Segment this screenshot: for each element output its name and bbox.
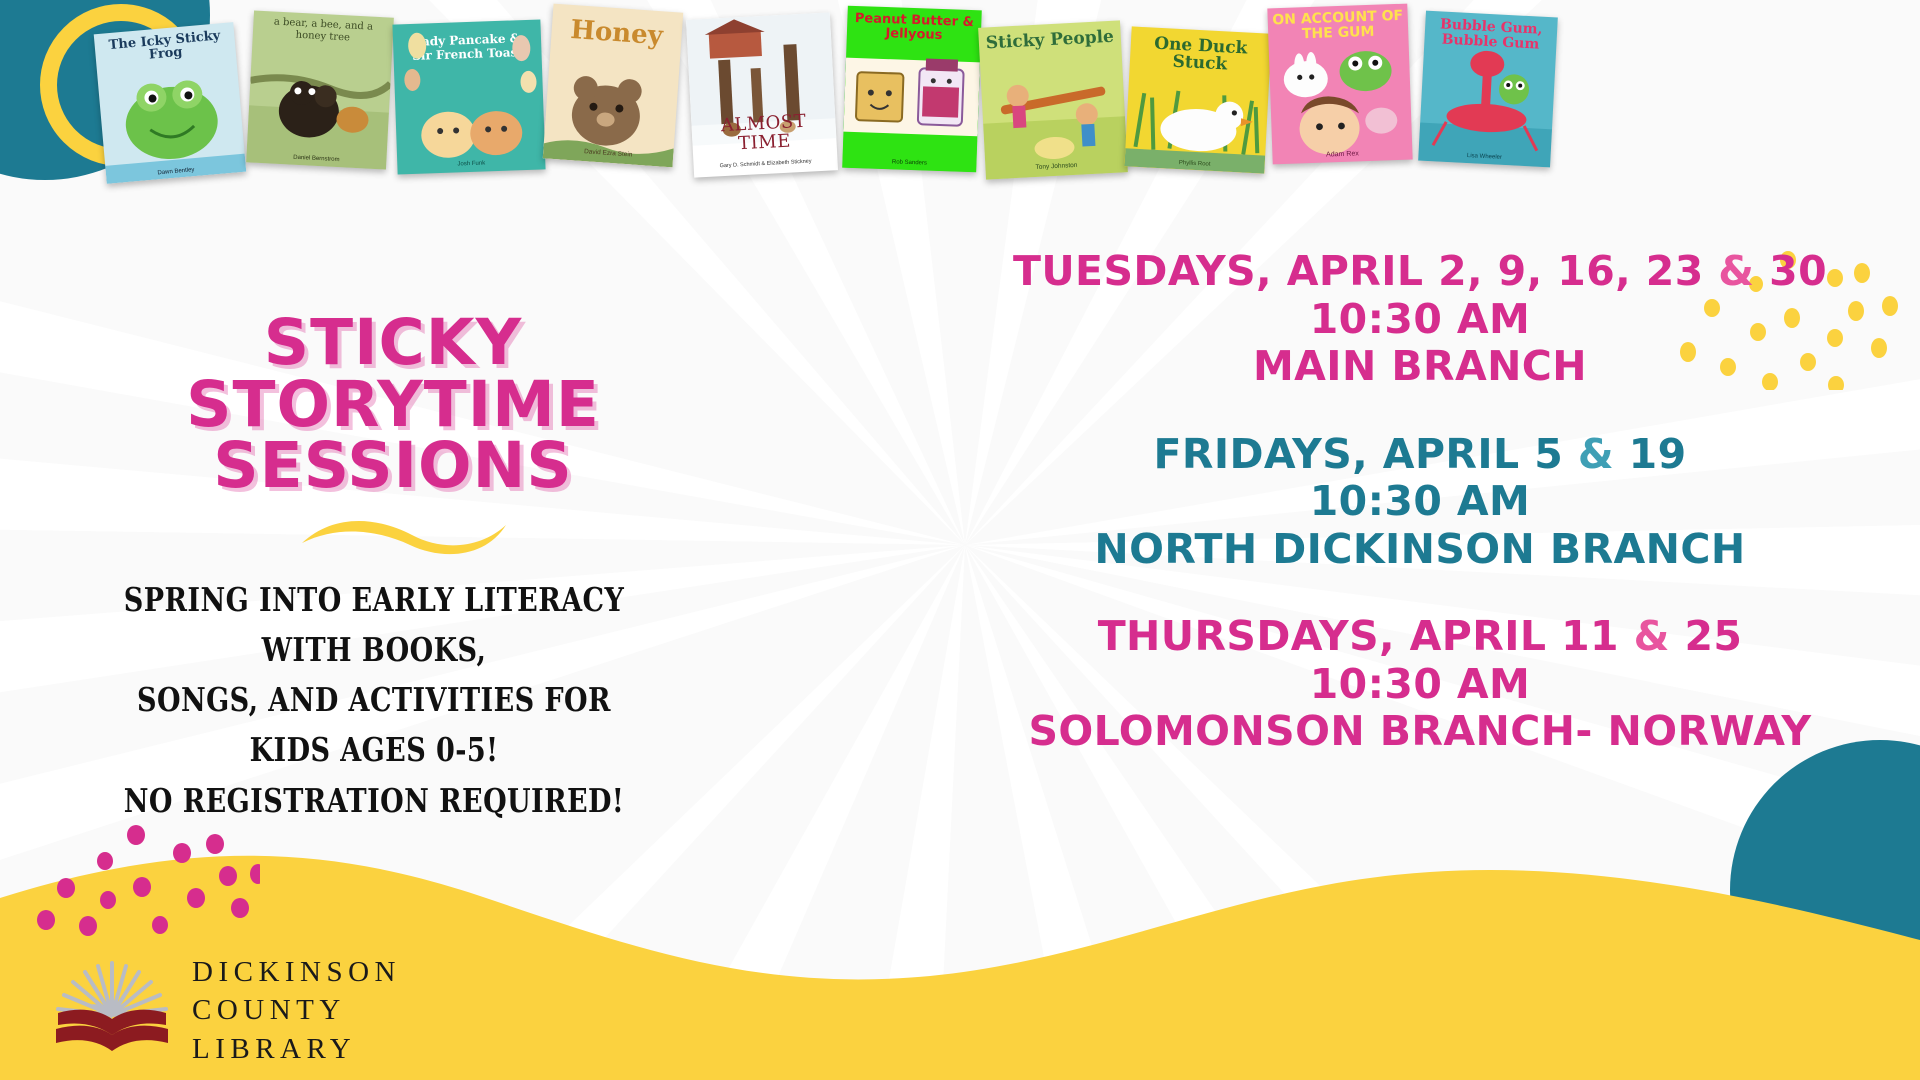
book-cover: Sticky People Tony Johnston bbox=[978, 20, 1128, 179]
book-cover-row: The Icky Sticky Frog Dawn Bentley a bear… bbox=[0, 0, 1920, 215]
schedule-days: THURSDAYS, APRIL 11 & 25 bbox=[980, 613, 1860, 661]
blurb-line-2: SONGS, AND ACTIVITIES FOR KIDS AGES 0-5! bbox=[103, 675, 644, 775]
schedule-days-prefix: FRIDAYS, APRIL 5 bbox=[1153, 430, 1577, 478]
schedule-ampersand: & bbox=[1718, 247, 1769, 295]
logo-line-2: COUNTY bbox=[192, 991, 401, 1029]
schedule-entry-thursdays: THURSDAYS, APRIL 11 & 25 10:30 AM SOLOMO… bbox=[980, 613, 1860, 756]
book-cover: Lady Pancake & Sir French Toast Josh Fun… bbox=[392, 19, 545, 174]
book-cover: ON ACCOUNT OF THE GUM Adam Rex bbox=[1267, 4, 1412, 165]
schedule-location: SOLOMONSON BRANCH- NORWAY bbox=[980, 708, 1860, 756]
schedule-days: FRIDAYS, APRIL 5 & 19 bbox=[980, 431, 1860, 479]
schedule-days-suffix: 30 bbox=[1769, 247, 1827, 295]
schedule-list: TUESDAYS, APRIL 2, 9, 16, 23 & 30 10:30 … bbox=[980, 248, 1860, 796]
book-cover: a bear, a bee, and a honey tree Daniel B… bbox=[246, 10, 394, 169]
library-logo-text: DICKINSON COUNTY LIBRARY bbox=[192, 953, 401, 1068]
book-cover: Peanut Butter & Jellyous Rob Sanders bbox=[842, 6, 982, 173]
schedule-time: 10:30 AM bbox=[980, 661, 1860, 709]
logo-line-1: DICKINSON bbox=[192, 953, 401, 991]
schedule-ampersand: & bbox=[1578, 430, 1629, 478]
schedule-days-prefix: TUESDAYS, APRIL 2, 9, 16, 23 bbox=[1013, 247, 1718, 295]
schedule-days-suffix: 19 bbox=[1629, 430, 1687, 478]
book-cover: Bubble Gum, Bubble Gum Lisa Wheeler bbox=[1418, 11, 1558, 168]
library-logo: DICKINSON COUNTY LIBRARY bbox=[42, 947, 382, 1062]
schedule-days-prefix: THURSDAYS, APRIL 11 bbox=[1098, 612, 1634, 660]
poster-canvas: The Icky Sticky Frog Dawn Bentley a bear… bbox=[0, 0, 1920, 1080]
book-cover: ALMOST TIME Gary D. Schmidt & Elizabeth … bbox=[686, 12, 838, 177]
book-cover: Honey David Ezra Stein bbox=[543, 4, 683, 168]
schedule-ampersand: & bbox=[1634, 612, 1685, 660]
schedule-location: NORTH DICKINSON BRANCH bbox=[980, 526, 1860, 574]
page-title: STICKY STORYTIME SESSIONS bbox=[48, 312, 738, 497]
book-cover: One Duck Stuck Phyllis Root bbox=[1124, 26, 1271, 173]
blurb-line-3: NO REGISTRATION REQUIRED! bbox=[103, 776, 644, 826]
schedule-entry-fridays: FRIDAYS, APRIL 5 & 19 10:30 AM NORTH DIC… bbox=[980, 431, 1860, 574]
logo-line-3: LIBRARY bbox=[192, 1030, 401, 1068]
schedule-entry-tuesdays: TUESDAYS, APRIL 2, 9, 16, 23 & 30 10:30 … bbox=[980, 248, 1860, 391]
book-cover: The Icky Sticky Frog Dawn Bentley bbox=[94, 22, 247, 184]
schedule-days-suffix: 25 bbox=[1684, 612, 1742, 660]
schedule-location: MAIN BRANCH bbox=[980, 343, 1860, 391]
open-book-sunburst-icon bbox=[42, 951, 182, 1061]
title-line-1: STICKY STORYTIME bbox=[48, 312, 738, 435]
description-text: SPRING INTO EARLY LITERACY WITH BOOKS, S… bbox=[103, 575, 644, 826]
title-line-2: SESSIONS bbox=[48, 435, 738, 497]
book-title: ALMOST TIME bbox=[691, 111, 837, 155]
pink-confetti-dots bbox=[30, 810, 260, 960]
blurb-line-1: SPRING INTO EARLY LITERACY WITH BOOKS, bbox=[103, 575, 644, 675]
schedule-time: 10:30 AM bbox=[980, 296, 1860, 344]
yellow-swoosh-divider bbox=[300, 515, 510, 557]
schedule-days: TUESDAYS, APRIL 2, 9, 16, 23 & 30 bbox=[980, 248, 1860, 296]
schedule-time: 10:30 AM bbox=[980, 478, 1860, 526]
